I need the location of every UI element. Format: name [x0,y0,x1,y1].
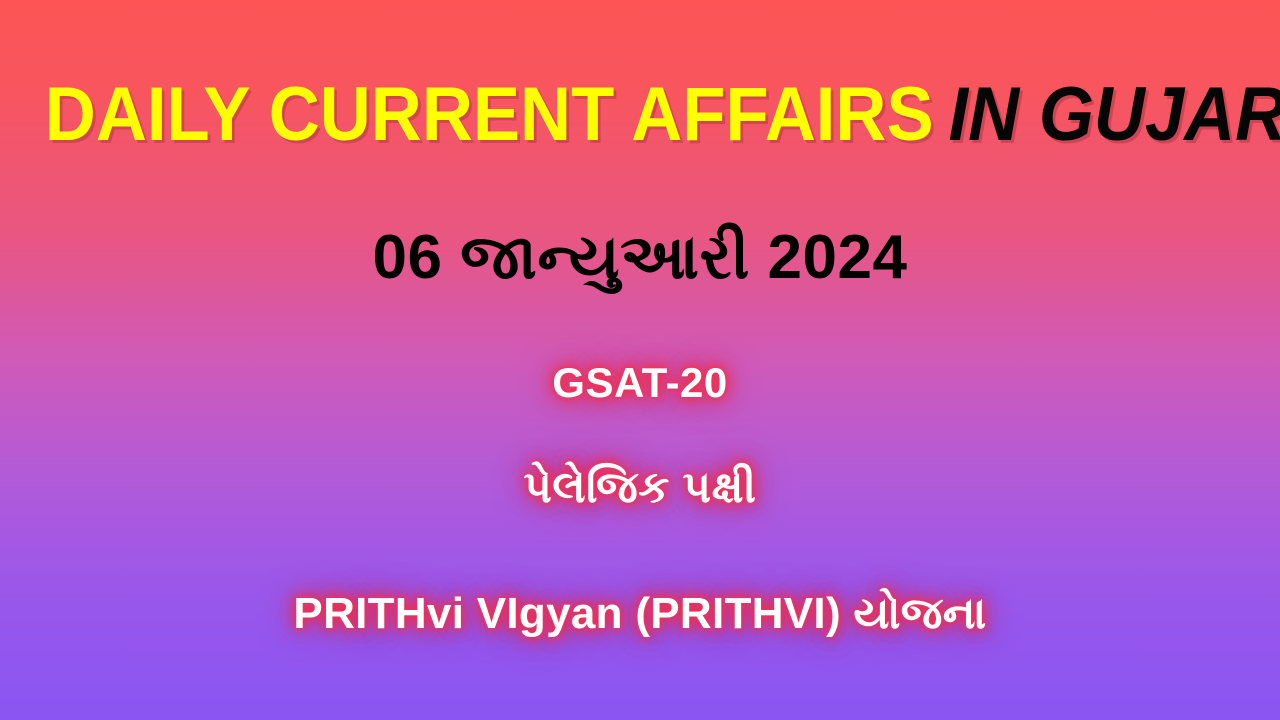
headline-secondary-text: IN GUJARATI [948,72,1280,158]
headline-primary-text: DAILY CURRENT AFFAIRS [45,72,934,158]
topic-item-prithvi-scheme: PRITHvi VIgyan (PRITHVI) યોજના [0,578,1280,650]
topic-item-pelagic-bird: પેલેજિક પક્ષી [0,452,1280,524]
current-affairs-banner: DAILY CURRENT AFFAIRSIN GUJARATI 06 જાન્… [0,0,1280,720]
banner-date: 06 જાન્યુઆરી 2024 [0,212,1280,304]
banner-headline: DAILY CURRENT AFFAIRSIN GUJARATI [45,72,1235,158]
topic-item-gsat-20: GSAT-20 [0,354,1280,412]
